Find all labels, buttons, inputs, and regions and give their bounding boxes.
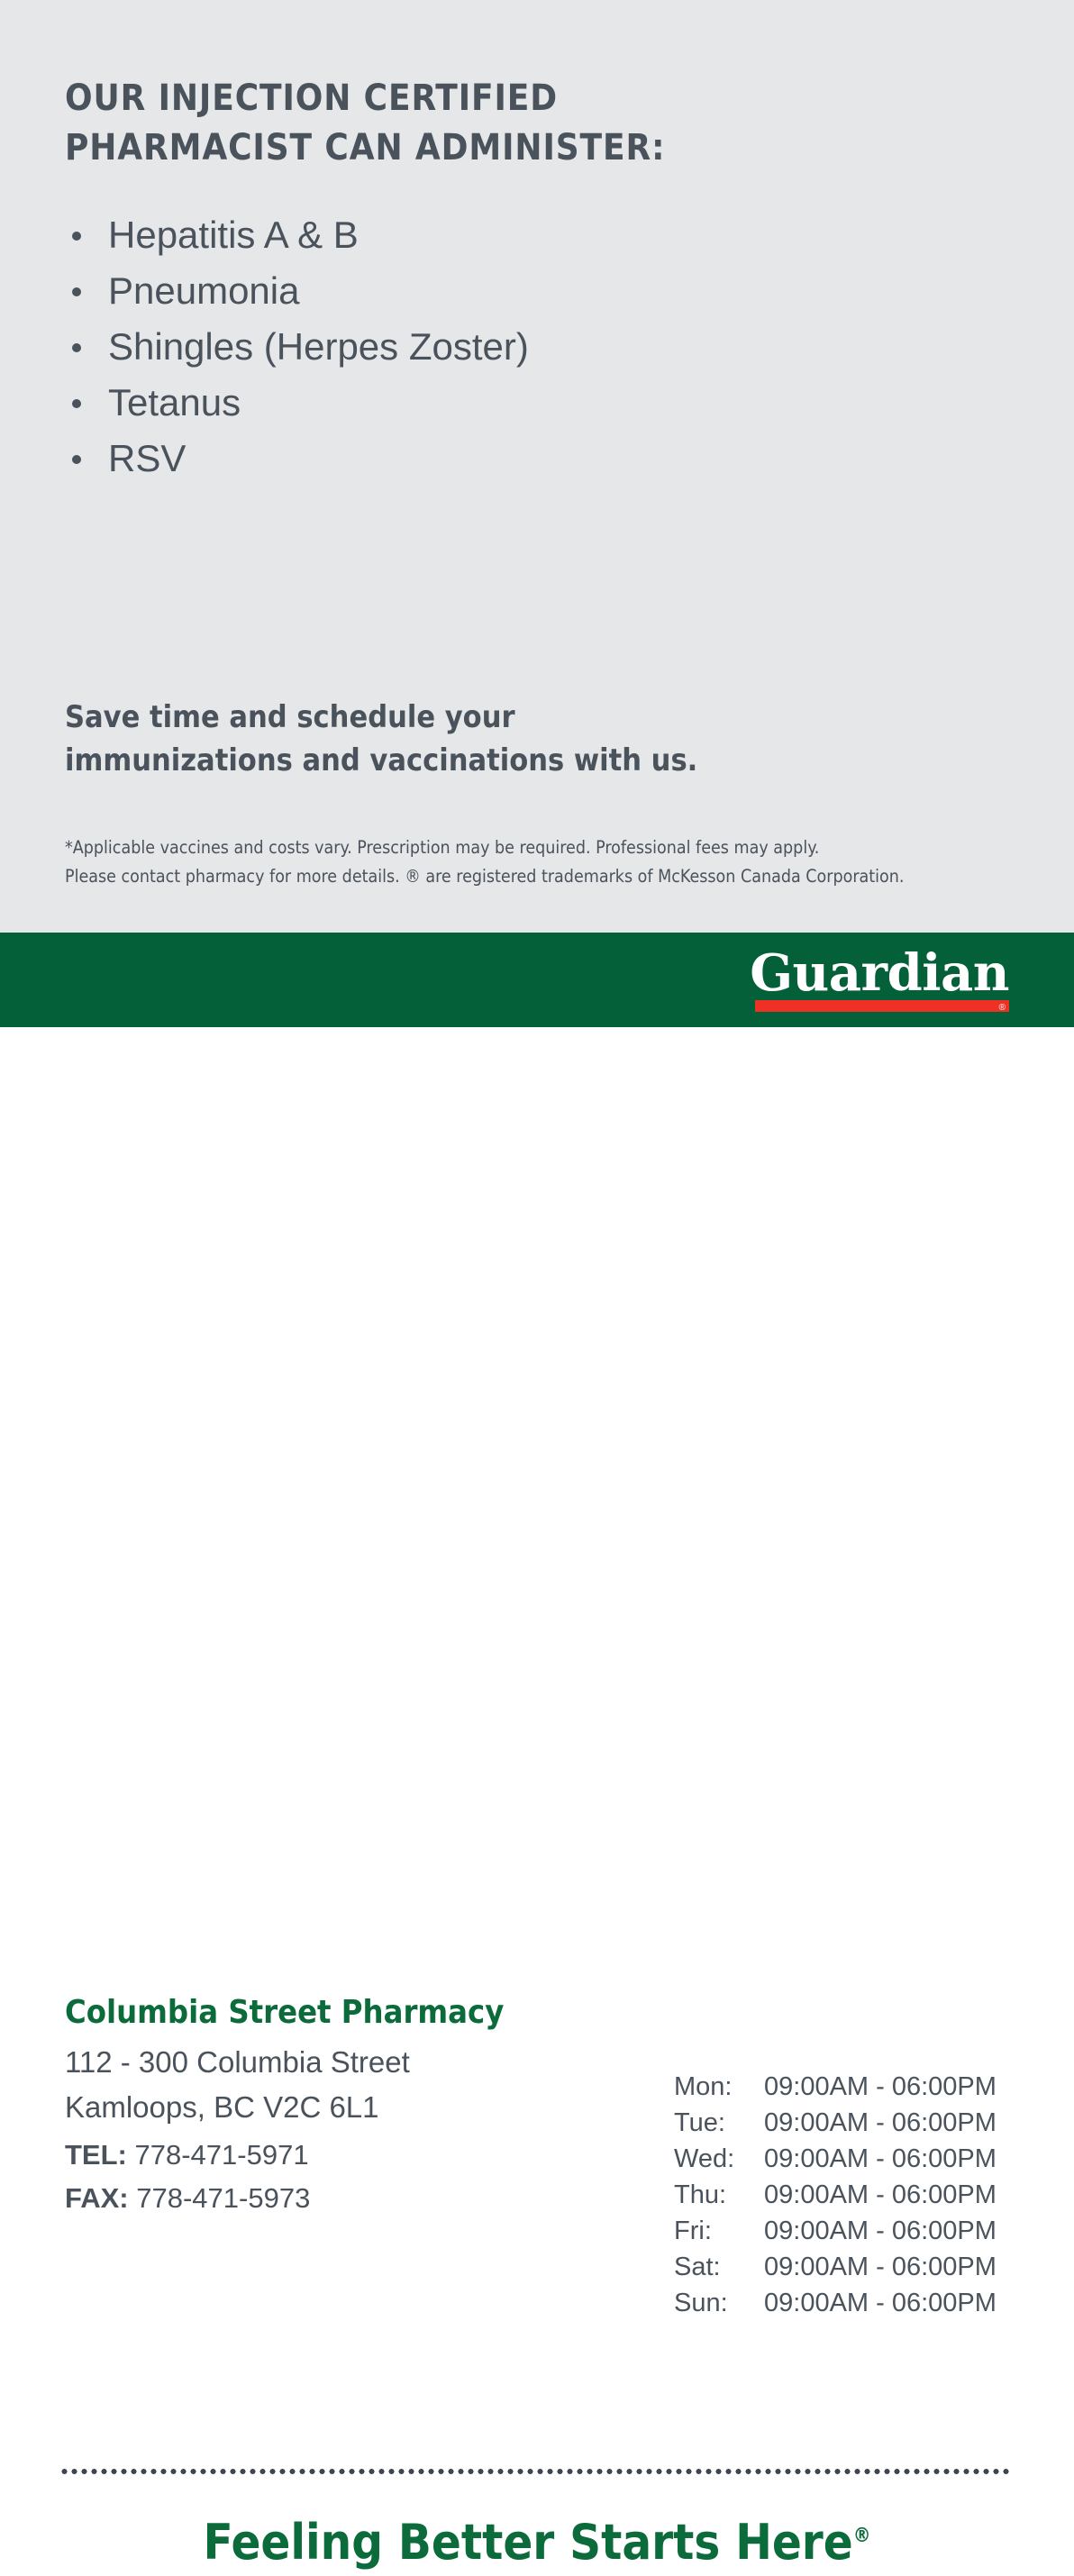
dotted-divider [59,2469,1011,2474]
table-row: Fri: 09:00AM - 06:00PM [674,2213,997,2249]
store-address: 112 - 300 Columbia Street Kamloops, BC V… [65,2040,410,2130]
telephone-label: TEL: [65,2139,127,2171]
guardian-logo: Guardian ® [748,947,1009,1014]
scheduling-subheading-line-2: immunizations and vaccinations with us. [65,739,822,782]
vaccination-info-panel: OUR INJECTION CERTIFIED PHARMACIST CAN A… [0,0,1074,933]
registered-trademark-icon: ® [853,2525,871,2547]
fax-row: FAX: 778-471-5973 [65,2177,310,2220]
list-item-label: RSV [108,437,186,479]
bullet-icon [72,455,81,464]
page-title: OUR INJECTION CERTIFIED PHARMACIST CAN A… [65,74,822,173]
brand-tagline: Feeling Better Starts Here® [0,2503,1074,2576]
store-address-line-2: Kamloops, BC V2C 6L1 [65,2085,410,2130]
disclaimer-line-2: Please contact pharmacy for more details… [65,862,1020,891]
bullet-icon [72,232,81,241]
store-contact: TEL: 778-471-5971 FAX: 778-471-5973 [65,2134,310,2220]
list-item: Hepatitis A & B [61,207,782,263]
hours-time-value: 09:00AM - 06:00PM [764,2069,997,2105]
guardian-logo-wordmark: Guardian [748,947,1009,999]
hours-time-value: 09:00AM - 06:00PM [764,2249,997,2285]
store-footer: Columbia Street Pharmacy 112 - 300 Colum… [0,1027,1074,1608]
store-address-line-1: 112 - 300 Columbia Street [65,2040,410,2085]
telephone-value[interactable]: 778-471-5971 [135,2139,309,2171]
vaccine-list: Hepatitis A & B Pneumonia Shingles (Herp… [61,207,782,487]
hours-day-label: Sat: [674,2249,764,2285]
page-title-line-2: PHARMACIST CAN ADMINISTER: [65,123,822,173]
list-item-label: Shingles (Herpes Zoster) [108,325,529,368]
bullet-icon [72,399,81,408]
hours-time-value: 09:00AM - 06:00PM [764,2177,997,2213]
hours-day-label: Mon: [674,2069,764,2105]
fax-label: FAX: [65,2182,129,2214]
store-hours-table: Mon: 09:00AM - 06:00PM Tue: 09:00AM - 06… [674,2069,997,2321]
store-name: Columbia Street Pharmacy [65,1993,504,2033]
table-row: Wed: 09:00AM - 06:00PM [674,2141,997,2177]
hours-time-value: 09:00AM - 06:00PM [764,2141,997,2177]
hours-day-label: Fri: [674,2213,764,2249]
bullet-icon [72,287,81,296]
hours-day-label: Sun: [674,2285,764,2321]
table-row: Mon: 09:00AM - 06:00PM [674,2069,997,2105]
page-title-line-1: OUR INJECTION CERTIFIED [65,74,822,123]
table-row: Thu: 09:00AM - 06:00PM [674,2177,997,2213]
table-row: Sat: 09:00AM - 06:00PM [674,2249,997,2285]
scheduling-subheading: Save time and schedule your immunization… [65,696,822,783]
fax-value: 778-471-5973 [136,2182,310,2214]
table-row: Tue: 09:00AM - 06:00PM [674,2105,997,2141]
list-item-label: Tetanus [108,381,241,423]
registered-trademark-icon: ® [999,1002,1006,1014]
disclaimer-text: *Applicable vaccines and costs vary. Pre… [65,833,1020,890]
telephone-row: TEL: 778-471-5971 [65,2134,310,2177]
guardian-logo-underline [755,1000,1009,1012]
scheduling-subheading-line-1: Save time and schedule your [65,696,822,739]
brand-tagline-text: Feeling Better Starts Here [203,2514,852,2571]
list-item-label: Pneumonia [108,269,299,312]
hours-day-label: Wed: [674,2141,764,2177]
list-item: Shingles (Herpes Zoster) [61,319,782,375]
hours-time-value: 09:00AM - 06:00PM [764,2105,997,2141]
list-item-label: Hepatitis A & B [108,214,359,256]
hours-time-value: 09:00AM - 06:00PM [764,2213,997,2249]
hours-day-label: Tue: [674,2105,764,2141]
table-row: Sun: 09:00AM - 06:00PM [674,2285,997,2321]
hours-day-label: Thu: [674,2177,764,2213]
list-item: RSV [61,431,782,487]
list-item: Tetanus [61,375,782,431]
bullet-icon [72,343,81,352]
brand-band: Guardian ® [0,933,1074,1027]
disclaimer-line-1: *Applicable vaccines and costs vary. Pre… [65,833,1020,862]
list-item: Pneumonia [61,263,782,319]
hours-time-value: 09:00AM - 06:00PM [764,2285,997,2321]
